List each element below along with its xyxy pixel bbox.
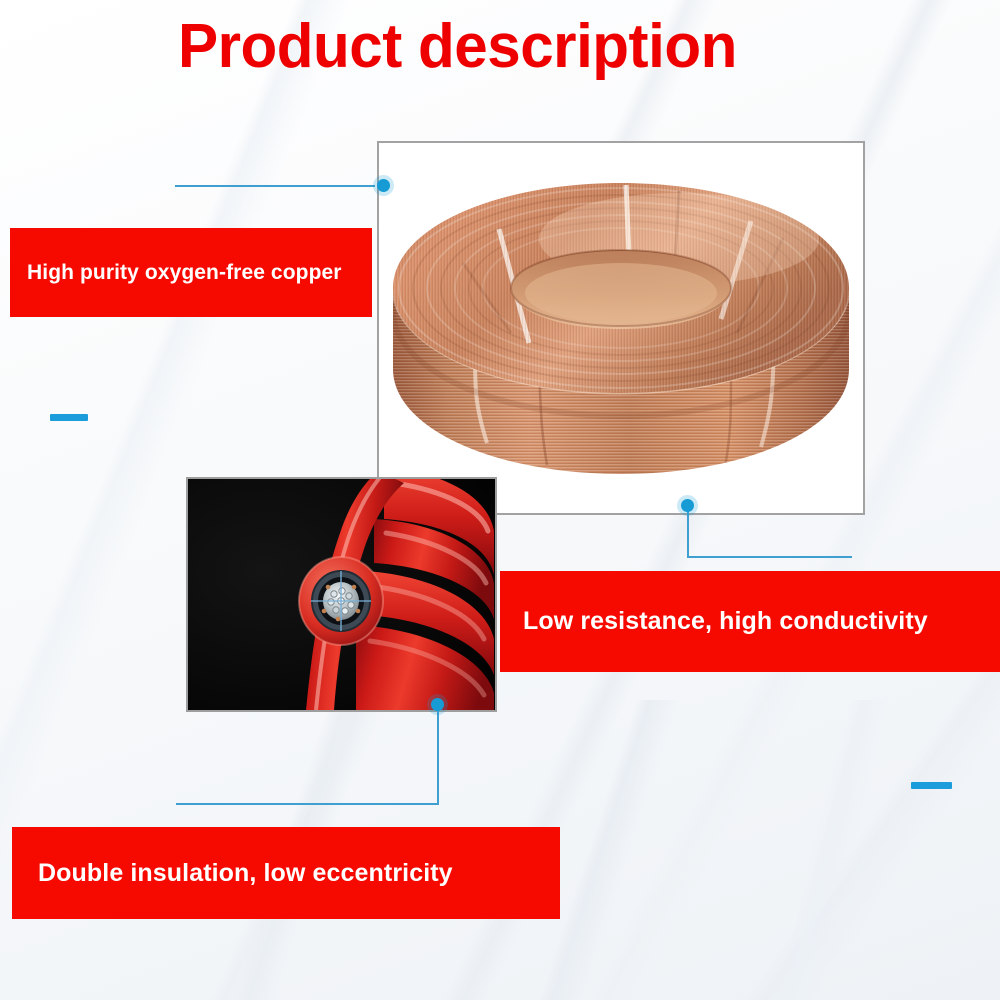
red-cable-image [188, 479, 495, 710]
feature-caption-double-insulation-low-eccentricity: Double insulation, low eccentricity [12, 827, 560, 919]
accent-dash-right [911, 782, 952, 789]
leader-dot-feature-2 [681, 499, 694, 512]
accent-dash-left [50, 414, 88, 421]
caption-label: Double insulation, low eccentricity [38, 859, 453, 888]
product-description-banner: Product description [0, 0, 1000, 1000]
leader-line-feature-3-vertical [437, 706, 439, 805]
page-title: Product description [178, 16, 737, 78]
leader-dot-feature-3 [431, 698, 444, 711]
leader-line-feature-2-vertical [687, 507, 689, 558]
copper-coil-photo [377, 141, 865, 515]
leader-line-feature-2-horizontal [687, 556, 852, 558]
feature-caption-high-purity-oxygen-free-copper: High purity oxygen-free copper [10, 228, 372, 317]
leader-line-feature-3-horizontal [176, 803, 439, 805]
red-cable-illustration [188, 479, 495, 710]
leader-line-feature-1 [175, 185, 375, 187]
copper-coil-image [379, 143, 863, 513]
feature-caption-low-resistance-high-conductivity: Low resistance, high conductivity [500, 571, 1000, 672]
leader-dot-feature-1 [377, 179, 390, 192]
caption-label: High purity oxygen-free copper [27, 261, 342, 285]
copper-coil-illustration [379, 143, 863, 513]
red-cable-photo [186, 477, 497, 712]
caption-label: Low resistance, high conductivity [523, 607, 928, 636]
